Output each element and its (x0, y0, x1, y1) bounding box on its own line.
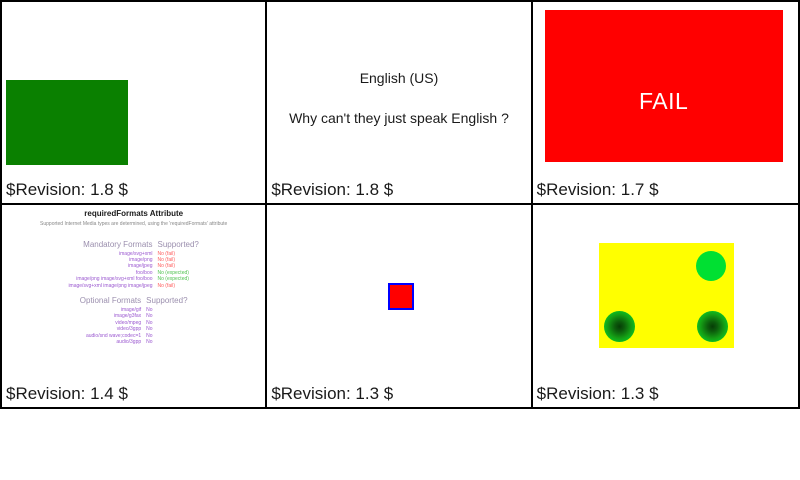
optional-formats-header-format: Optional Formats (80, 289, 146, 307)
mandatory-formats-header-format: Mandatory Formats (68, 233, 157, 251)
mandatory-formats-header-supported: Supported? (158, 233, 199, 251)
required-formats-title: requiredFormats Attribute (2, 209, 265, 219)
revision-label: $Revision: 1.3 $ (537, 384, 659, 404)
cell-fail-banner-canvas: FAIL (533, 2, 798, 169)
required-formats-subtitle: Supported Internet Media types are deter… (2, 221, 265, 228)
cell-green-rectangle-test: $Revision: 1.8 $ (2, 2, 267, 205)
cell-red-square-canvas (267, 205, 530, 374)
format-name: image/png image/svg+xml foo/boo (68, 276, 157, 282)
screenshot-root: $Revision: 1.8 $ English (US) Why can't … (0, 0, 800, 480)
table-row: image/png image/svg+xml foo/boo No (expe… (68, 276, 198, 282)
fail-banner-text: FAIL (545, 88, 783, 115)
green-circle-top-right (696, 251, 726, 281)
cell-language-canvas: English (US) Why can't they just speak E… (267, 2, 530, 169)
cell-required-formats-test: requiredFormats Attribute Supported Inte… (2, 205, 267, 408)
green-rectangle-shape (6, 80, 128, 165)
yellow-rectangle-shape (599, 243, 734, 348)
format-name: audio/3gpp (80, 339, 146, 345)
mandatory-formats-header-row: Mandatory Formats Supported? (68, 233, 198, 251)
revision-label: $Revision: 1.7 $ (537, 180, 659, 200)
language-label: English (US) (267, 70, 530, 86)
green-circle-bottom-right (697, 311, 728, 342)
cell-required-formats-canvas: requiredFormats Attribute Supported Inte… (2, 205, 265, 374)
cell-red-square-test: $Revision: 1.3 $ (267, 205, 532, 408)
cell-language-test: English (US) Why can't they just speak E… (267, 2, 532, 205)
revision-label: $Revision: 1.4 $ (6, 384, 128, 404)
revision-label: $Revision: 1.8 $ (271, 180, 393, 200)
cell-gradient-circles-canvas (533, 205, 798, 374)
mandatory-formats-table: Mandatory Formats Supported? image/svg+x… (68, 233, 198, 289)
required-formats-panel: requiredFormats Attribute Supported Inte… (2, 205, 265, 374)
fail-banner-rectangle: FAIL (545, 10, 783, 162)
optional-formats-header-supported: Supported? (146, 289, 187, 307)
revision-label: $Revision: 1.3 $ (271, 384, 393, 404)
format-supported: No (146, 339, 187, 345)
optional-formats-header-row: Optional Formats Supported? (80, 289, 188, 307)
green-circle-bottom-left (604, 311, 635, 342)
optional-formats-table: Optional Formats Supported? image/gif No… (80, 289, 188, 345)
cell-gradient-circles-test: $Revision: 1.3 $ (533, 205, 798, 408)
optional-formats-body: Optional Formats Supported? image/gif No… (80, 289, 188, 345)
red-square-shape (388, 283, 414, 310)
revision-label: $Revision: 1.8 $ (6, 180, 128, 200)
language-question-text: Why can't they just speak English ? (267, 110, 530, 126)
mandatory-formats-body: Mandatory Formats Supported? image/svg+x… (68, 233, 198, 289)
cell-fail-banner-test: FAIL $Revision: 1.7 $ (533, 2, 798, 205)
cell-green-rectangle-canvas (2, 2, 265, 169)
table-row: audio/3gpp No (80, 339, 188, 345)
format-name: image/svg+xml image/png image/jpeg (68, 283, 157, 289)
test-results-grid: $Revision: 1.8 $ English (US) Why can't … (0, 0, 800, 409)
